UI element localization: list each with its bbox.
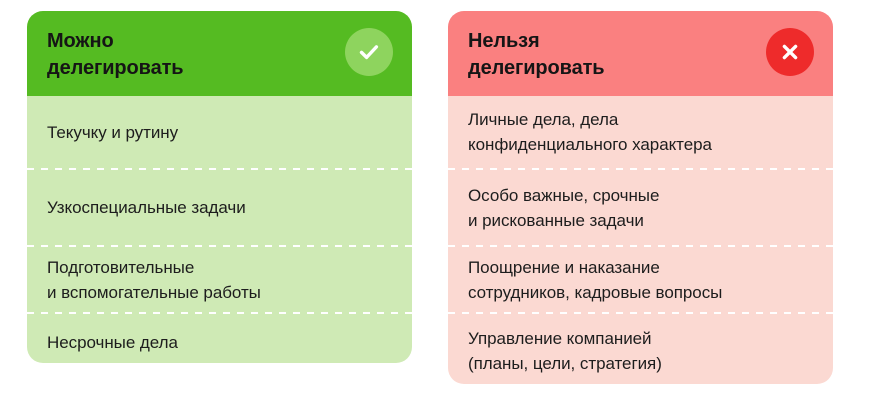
close-circle-icon bbox=[766, 28, 814, 76]
list-item-label: Поощрение и наказание сотрудников, кадро… bbox=[468, 255, 722, 305]
list-item: Поощрение и наказание сотрудников, кадро… bbox=[448, 247, 833, 312]
check-circle-icon bbox=[345, 28, 393, 76]
list-item: Подготовительные и вспомогательные работ… bbox=[27, 247, 412, 312]
card-body-can-delegate: Текучку и рутину Узкоспециальные задачи … bbox=[27, 96, 412, 363]
list-item-label: Подготовительные и вспомогательные работ… bbox=[47, 255, 261, 305]
list-item-label: Особо важные, срочные и рискованные зада… bbox=[468, 183, 659, 233]
card-header-can-delegate: Можно делегировать bbox=[27, 11, 412, 96]
card-can-delegate: Можно делегировать Текучку и рутину Узко… bbox=[27, 11, 412, 363]
list-item: Особо важные, срочные и рискованные зада… bbox=[448, 170, 833, 245]
list-item: Управление компанией (планы, цели, страт… bbox=[448, 314, 833, 376]
delegation-comparison-board: Можно делегировать Текучку и рутину Узко… bbox=[0, 0, 870, 400]
list-item: Текучку и рутину bbox=[27, 96, 412, 168]
card-title-can-delegate: Можно делегировать bbox=[47, 28, 184, 82]
card-title-cannot-delegate: Нельзя делегировать bbox=[468, 28, 605, 82]
list-item-label: Узкоспециальные задачи bbox=[47, 195, 246, 220]
list-item: Несрочные дела bbox=[27, 314, 412, 355]
card-cannot-delegate: Нельзя делегировать Личные дела, дела ко… bbox=[448, 11, 833, 384]
card-body-cannot-delegate: Личные дела, дела конфиденциального хара… bbox=[448, 96, 833, 384]
list-item-label: Личные дела, дела конфиденциального хара… bbox=[468, 107, 712, 157]
list-item: Личные дела, дела конфиденциального хара… bbox=[448, 96, 833, 168]
list-item-label: Текучку и рутину bbox=[47, 120, 178, 145]
list-item: Узкоспециальные задачи bbox=[27, 170, 412, 245]
list-item-label: Несрочные дела bbox=[47, 330, 178, 355]
card-header-cannot-delegate: Нельзя делегировать bbox=[448, 11, 833, 96]
list-item-label: Управление компанией (планы, цели, страт… bbox=[468, 326, 662, 376]
